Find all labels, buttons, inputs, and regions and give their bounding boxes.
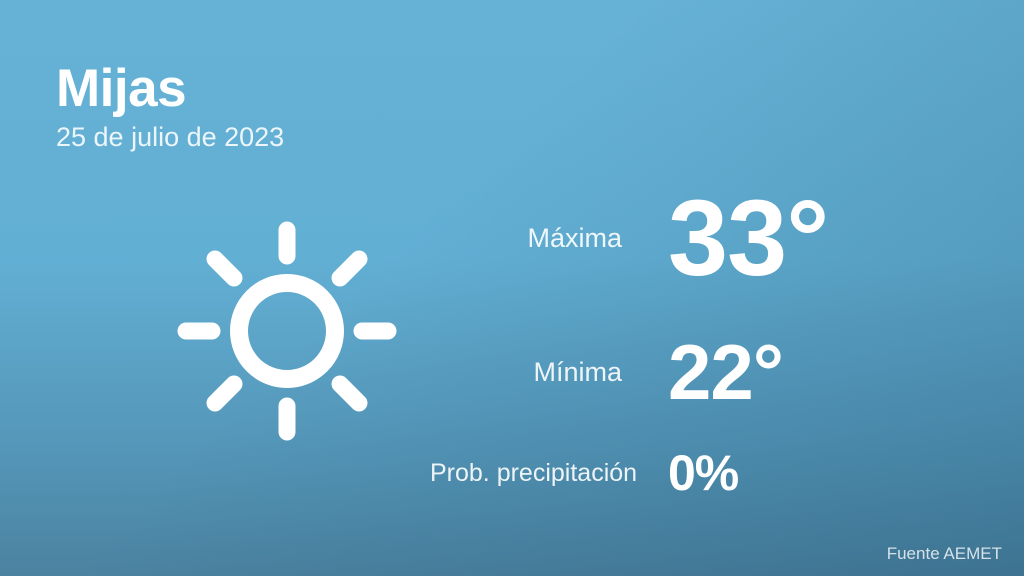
header: Mijas 25 de julio de 2023 xyxy=(56,62,284,151)
reading-value-precipitacion: 0% xyxy=(668,448,738,498)
reading-row-maxima: Máxima 33° xyxy=(430,168,970,308)
readings-panel: Máxima 33° Mínima 22° Prob. precipitació… xyxy=(430,168,970,510)
sun-icon xyxy=(172,218,402,444)
reading-label-maxima: Máxima xyxy=(430,223,668,254)
reading-value-minima: 22° xyxy=(668,333,783,411)
reading-row-precipitacion: Prob. precipitación 0% xyxy=(430,436,970,510)
source-attribution: Fuente AEMET xyxy=(887,544,1002,564)
page-title: Mijas xyxy=(56,62,284,115)
forecast-date: 25 de julio de 2023 xyxy=(56,124,284,151)
reading-label-minima: Mínima xyxy=(430,357,668,388)
reading-label-precipitacion: Prob. precipitación xyxy=(430,459,668,488)
reading-row-minima: Mínima 22° xyxy=(430,308,970,436)
weather-card: Mijas 25 de julio de 2023 xyxy=(0,0,1024,576)
reading-value-maxima: 33° xyxy=(668,184,828,292)
